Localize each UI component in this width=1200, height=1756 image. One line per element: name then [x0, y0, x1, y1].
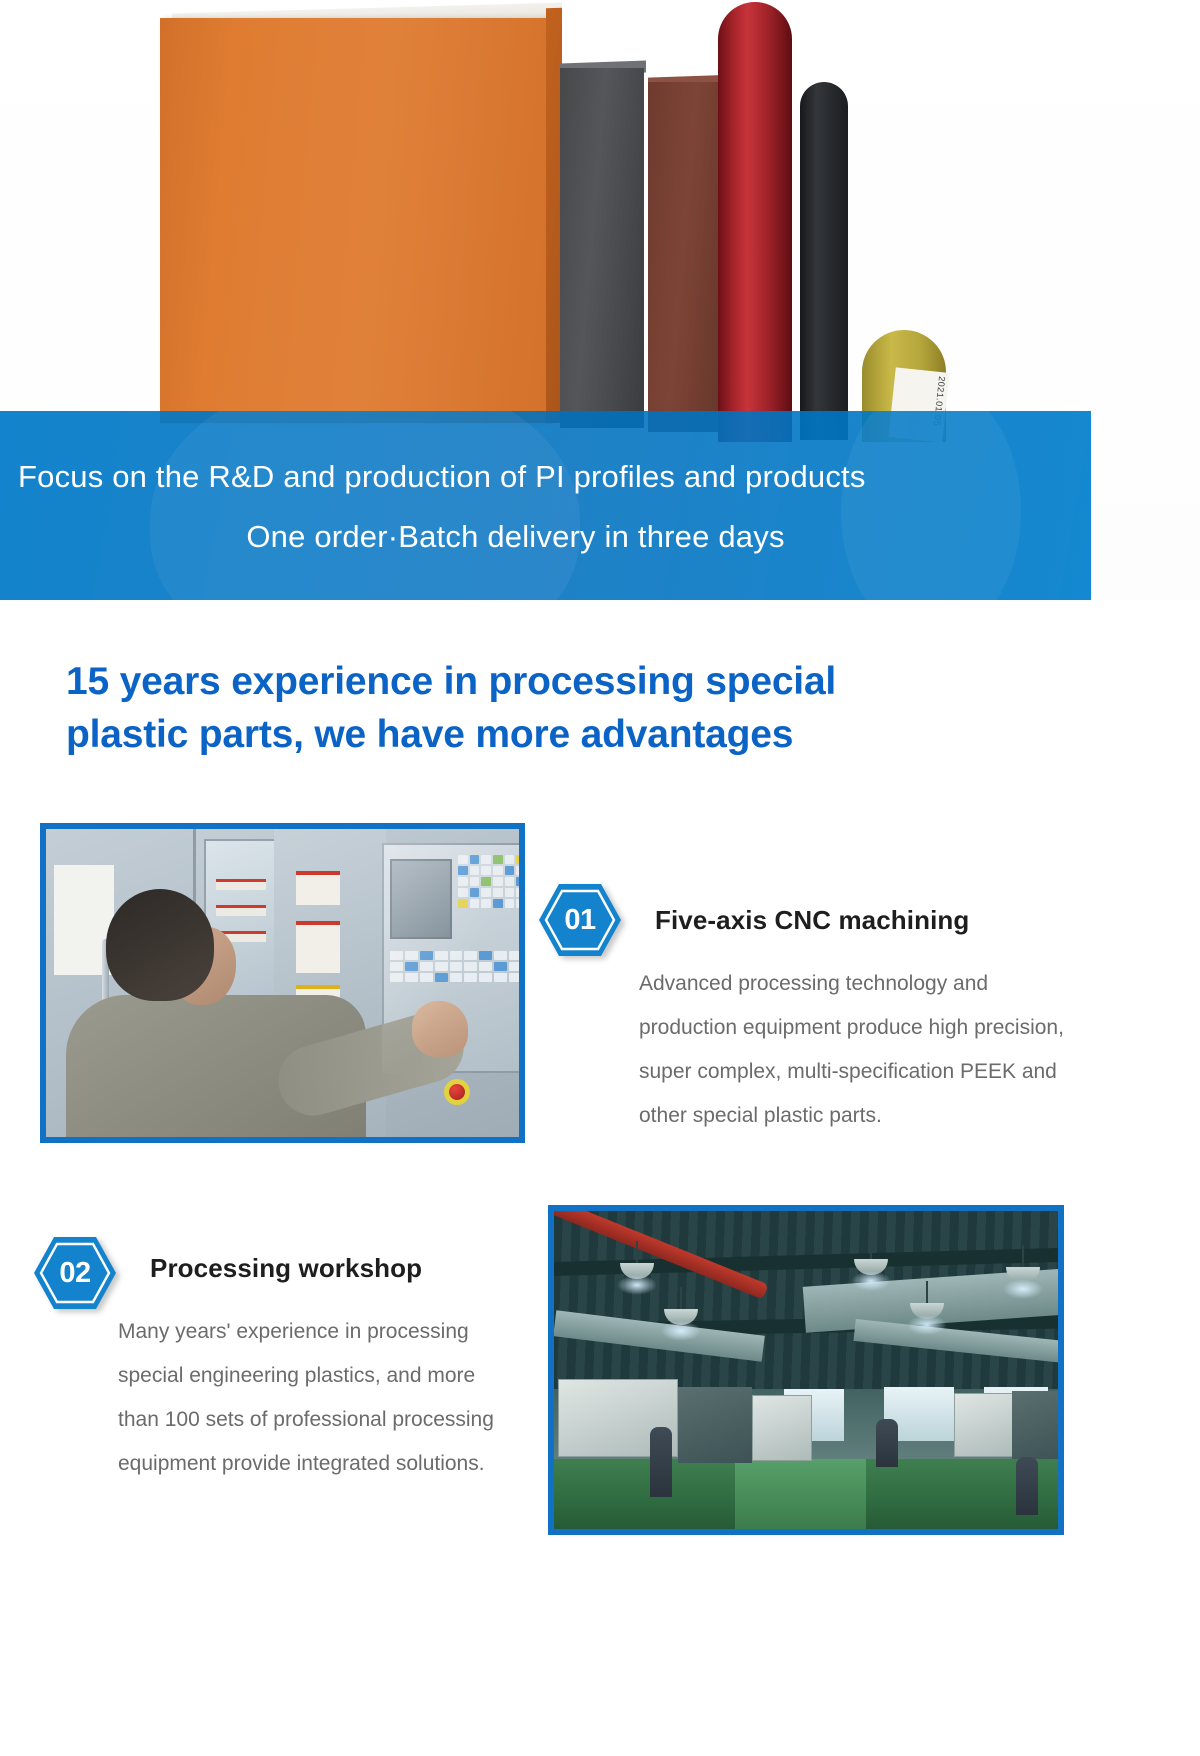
cnc-emergency-stop-button	[444, 1079, 470, 1105]
page-title-line-1: 15 years experience in processing specia…	[66, 655, 1066, 708]
workshop-lamp-glow-5	[1003, 1279, 1043, 1299]
feature-badge-01-number: 01	[537, 882, 623, 958]
workshop-photo	[548, 1205, 1064, 1535]
workshop-lamp-glow-2	[661, 1321, 701, 1341]
workshop-machine-3	[752, 1395, 812, 1461]
cnc-machining-photo	[40, 823, 525, 1143]
feature-body-02: Many years' experience in processing spe…	[118, 1310, 518, 1486]
workshop-machine-5	[1012, 1391, 1064, 1459]
dark-gray-sheet	[560, 68, 644, 428]
feature-badge-02-number: 02	[32, 1235, 118, 1311]
hero-section: 2021.01.05 Focus on the R&D and producti…	[0, 0, 1200, 600]
black-rod	[800, 82, 848, 440]
workshop-worker-2	[876, 1419, 898, 1467]
hero-banner: Focus on the R&D and production of PI pr…	[0, 411, 1091, 600]
banner-subheadline: One order·Batch delivery in three days	[0, 519, 1091, 555]
workshop-worker-3	[1016, 1457, 1038, 1515]
cnc-panel-glass-reflection	[382, 843, 525, 1073]
workshop-lamp-glow-3	[851, 1271, 891, 1291]
banner-headline: Focus on the R&D and production of PI pr…	[0, 459, 1091, 495]
feature-badge-02: 02	[32, 1235, 118, 1311]
workshop-machine-2	[678, 1387, 752, 1463]
workshop-lamp-glow-4	[907, 1315, 947, 1335]
banner-sheen-decor-2	[841, 411, 1021, 600]
workshop-green-aisle	[735, 1459, 866, 1529]
feature-body-01: Advanced processing technology and produ…	[639, 962, 1064, 1138]
feature-title-01: Five-axis CNC machining	[655, 905, 969, 936]
page-title: 15 years experience in processing specia…	[66, 655, 1066, 761]
page-title-line-2: plastic parts, we have more advantages	[66, 708, 1066, 761]
orange-phenolic-sheet	[160, 18, 548, 423]
cnc-worker-head	[106, 889, 214, 1001]
red-rod	[718, 2, 792, 442]
workshop-machine-4	[954, 1393, 1014, 1457]
cnc-warning-sticker-2	[296, 921, 340, 973]
cnc-warning-sticker-1	[296, 871, 340, 905]
banner-sheen-decor	[150, 411, 580, 600]
feature-badge-01: 01	[537, 882, 623, 958]
workshop-lamp-glow-1	[617, 1275, 657, 1295]
workshop-worker-1	[650, 1427, 672, 1497]
feature-title-02: Processing workshop	[150, 1253, 422, 1284]
